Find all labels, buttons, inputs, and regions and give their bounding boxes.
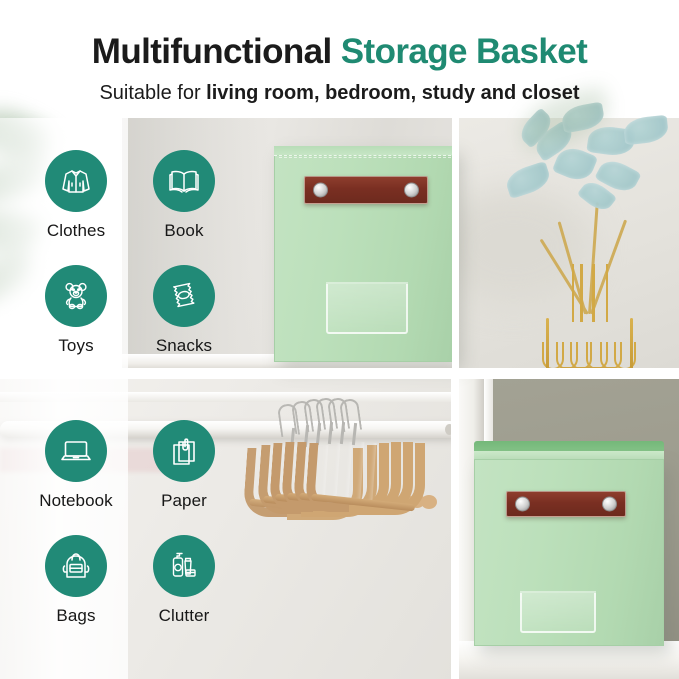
- panel-divider-vertical-top: [452, 118, 459, 370]
- feature-label: Clothes: [47, 221, 105, 241]
- vase-wire: [630, 318, 633, 370]
- feature-item-toys[interactable]: Toys: [22, 265, 130, 372]
- panel-divider-vertical-bottom: [451, 378, 459, 679]
- snack-bag-icon: [153, 265, 215, 327]
- handle-rivet: [602, 497, 617, 512]
- paper-clip-icon: [153, 420, 215, 482]
- basket-rim: [274, 146, 456, 156]
- feature-label: Snacks: [156, 336, 212, 356]
- feature-row: Bags Clutter: [22, 535, 238, 642]
- feature-item-clothes[interactable]: Clothes: [22, 150, 130, 257]
- page-title: Multifunctional Storage Basket: [0, 34, 679, 71]
- feature-item-clutter[interactable]: Clutter: [130, 535, 238, 642]
- title-primary: Multifunctional: [92, 32, 332, 71]
- label-holder-top-edge: [326, 282, 408, 284]
- basket-label-holder: [520, 593, 596, 633]
- feature-label: Notebook: [39, 491, 113, 511]
- subtitle-light: Suitable for: [99, 82, 200, 104]
- basket-stitching: [279, 157, 450, 159]
- feature-row: Clothes Book: [22, 150, 238, 257]
- page-subtitle: Suitable for living room, bedroom, study…: [0, 82, 679, 104]
- teddy-bear-icon: [45, 265, 107, 327]
- basket-label-holder: [326, 284, 408, 334]
- hanger-tip: [421, 495, 437, 509]
- feature-label: Book: [164, 221, 203, 241]
- hanger: [305, 399, 433, 517]
- storage-basket-front-view: [274, 146, 456, 362]
- bottles-icon: [153, 535, 215, 597]
- feature-icon-grid: Clothes Book: [22, 150, 238, 642]
- feature-label: Bags: [56, 606, 95, 626]
- title-accent: Storage Basket: [341, 32, 587, 71]
- vase-wire-arc: [614, 342, 636, 370]
- hanger-hook: [339, 398, 362, 432]
- basket-leather-handle: [506, 491, 626, 517]
- subtitle-strong: living room, bedroom, study and closet: [206, 82, 579, 104]
- product-infographic: Multifunctional Storage Basket Suitable …: [0, 0, 679, 679]
- vase-wire-cage: [540, 308, 636, 370]
- gold-wire-vase: [540, 255, 636, 370]
- feature-row: Toys Snacks: [22, 265, 238, 372]
- open-book-icon: [153, 150, 215, 212]
- headline-block: Multifunctional Storage Basket Suitable …: [0, 34, 679, 104]
- handle-rivet: [515, 497, 530, 512]
- feature-item-paper[interactable]: Paper: [130, 420, 238, 527]
- feature-label: Paper: [161, 491, 207, 511]
- label-holder-top-edge: [520, 591, 596, 593]
- feature-label: Toys: [58, 336, 93, 356]
- basket-leather-handle: [304, 176, 428, 204]
- jacket-icon: [45, 150, 107, 212]
- vase-wire: [546, 318, 549, 370]
- handle-rivet: [404, 183, 419, 198]
- feature-item-book[interactable]: Book: [130, 150, 238, 257]
- feature-row: Notebook Paper: [22, 420, 238, 527]
- backpack-icon: [45, 535, 107, 597]
- feature-item-bags[interactable]: Bags: [22, 535, 130, 642]
- laptop-icon: [45, 420, 107, 482]
- feature-label: Clutter: [159, 606, 210, 626]
- storage-basket-angled-view: [474, 441, 664, 644]
- feature-item-notebook[interactable]: Notebook: [22, 420, 130, 527]
- shelf-surface: [458, 641, 679, 679]
- handle-rivet: [313, 183, 328, 198]
- feature-item-snacks[interactable]: Snacks: [130, 265, 238, 372]
- wooden-hangers-group: [243, 398, 383, 598]
